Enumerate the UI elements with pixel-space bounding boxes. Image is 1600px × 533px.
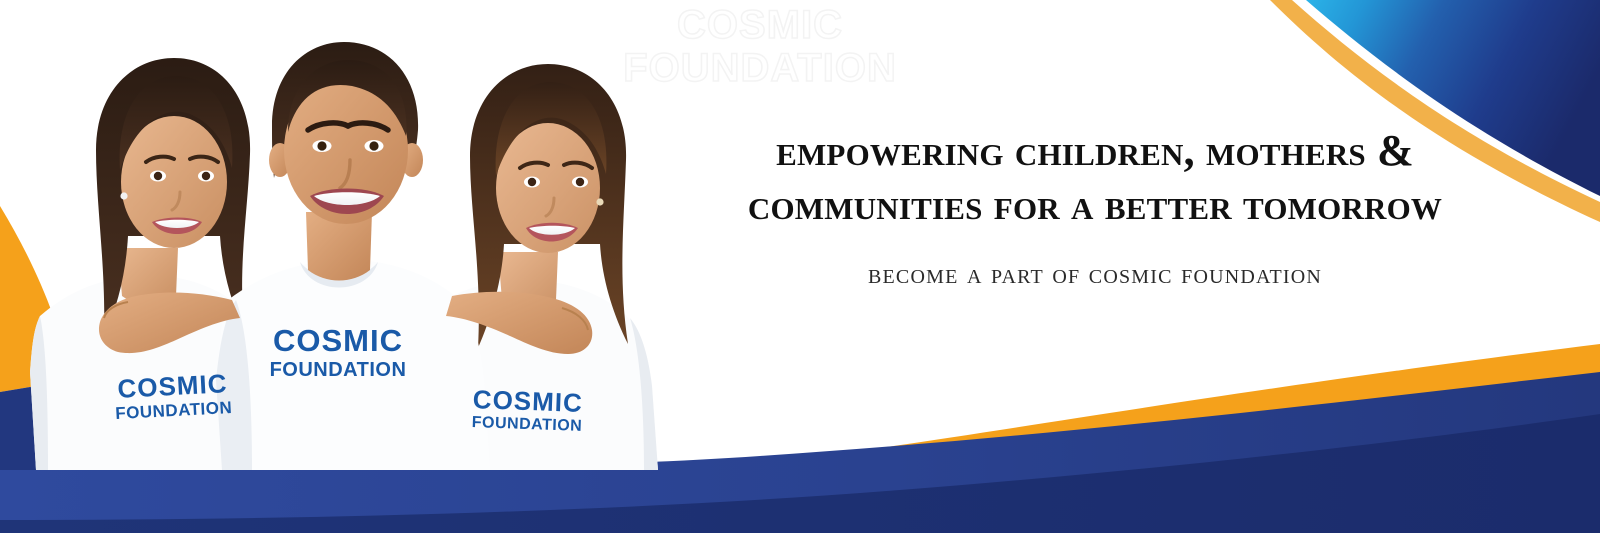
volunteers-illustration [0,0,730,533]
shirt-logo-center: COSMIC FOUNDATION [255,324,421,381]
shirt-logo-line-2: FOUNDATION [255,359,421,381]
hero-banner: COSMIC FOUNDATION [0,0,1600,533]
person-center [216,42,490,470]
volunteers-photo: COSMIC FOUNDATION COSMIC FOUNDATION COSM… [0,0,730,533]
banner-copy: Empowering Children, Mothers & Communiti… [700,124,1490,292]
banner-subheadline: Become a part of Cosmic Foundation [700,257,1490,292]
shirt-logo-left: COSMIC FOUNDATION [97,368,249,424]
shirt-logo-right: COSMIC FOUNDATION [454,384,601,436]
banner-headline: Empowering Children, Mothers & Communiti… [700,124,1490,231]
shirt-logo-line-1: COSMIC [255,324,421,359]
